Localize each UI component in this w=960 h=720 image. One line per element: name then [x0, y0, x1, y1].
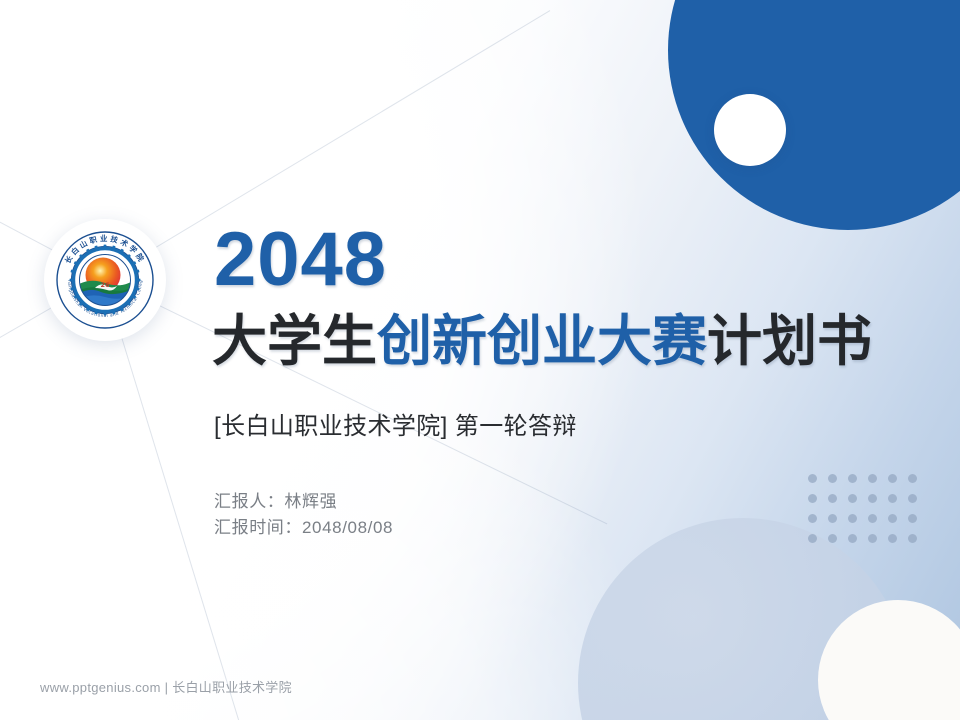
decor-dot — [808, 534, 817, 543]
decor-dot — [888, 474, 897, 483]
headline-tail: 计划书 — [707, 310, 872, 372]
decor-dot — [868, 514, 877, 523]
decor-dot — [828, 514, 837, 523]
college-seal-icon: 长白山职业技术学院 Changbaishan Vocational and Te… — [55, 230, 155, 330]
decor-dot — [848, 494, 857, 503]
decor-dot — [868, 494, 877, 503]
date-line: 汇报时间：2048/08/08 — [214, 515, 393, 541]
slide-year: 2048 — [214, 222, 387, 298]
decor-dot — [888, 514, 897, 523]
decor-dot — [908, 534, 917, 543]
decor-dot — [908, 474, 917, 483]
decor-dot — [828, 494, 837, 503]
decor-dot — [808, 494, 817, 503]
decor-white-dot — [714, 94, 786, 166]
decor-dot — [908, 514, 917, 523]
headline-accent: 创新创业大赛 — [377, 310, 707, 372]
slide-footer: www.pptgenius.com | 长白山职业技术学院 — [40, 677, 292, 696]
headline-lead: 大学生 — [212, 310, 377, 372]
college-emblem: 长白山职业技术学院 Changbaishan Vocational and Te… — [44, 219, 166, 341]
svg-text:26: 26 — [100, 281, 110, 289]
decor-dot — [848, 534, 857, 543]
decor-dot — [808, 474, 817, 483]
decor-dot — [828, 534, 837, 543]
decor-dot — [828, 474, 837, 483]
decor-dot — [808, 514, 817, 523]
decor-dot — [848, 474, 857, 483]
decor-dot — [848, 514, 857, 523]
decor-dot — [908, 494, 917, 503]
presentation-slide: 长白山职业技术学院 Changbaishan Vocational and Te… — [0, 0, 960, 720]
decor-dot — [868, 474, 877, 483]
decor-dot-grid — [808, 474, 928, 554]
slide-subtitle: [长白山职业技术学院] 第一轮答辩 — [214, 406, 577, 441]
decor-dot — [868, 534, 877, 543]
decor-dot — [888, 494, 897, 503]
slide-meta: 汇报人：林辉强 汇报时间：2048/08/08 — [214, 489, 393, 541]
slide-headline: 大学生创新创业大赛计划书 — [212, 312, 872, 371]
decor-dot — [888, 534, 897, 543]
presenter-line: 汇报人：林辉强 — [214, 489, 393, 515]
